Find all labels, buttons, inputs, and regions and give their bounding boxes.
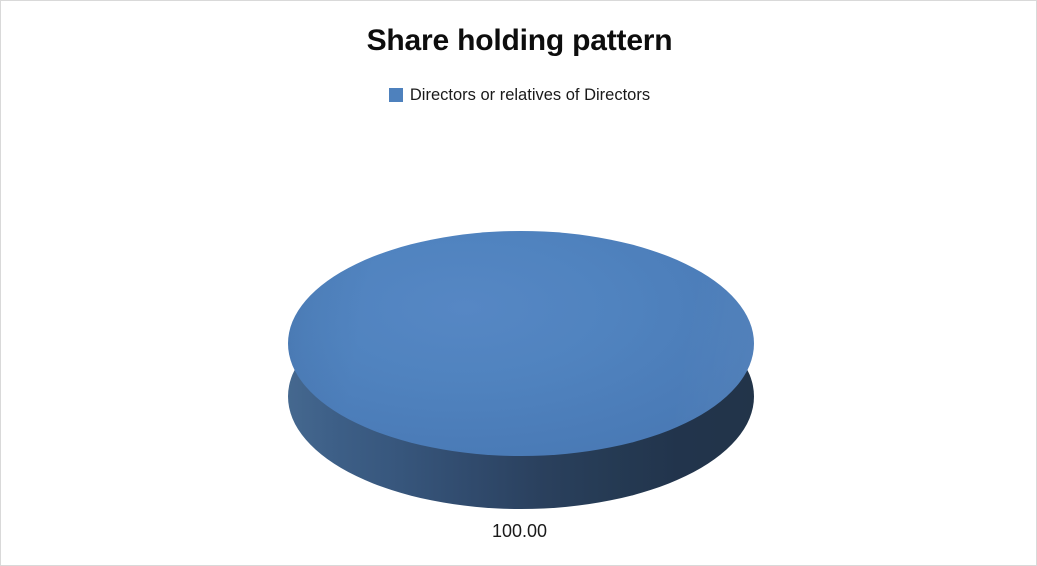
pie-slice-shading — [288, 231, 754, 456]
pie-slice-data-label: 100.00 — [1, 519, 1037, 543]
pie-chart-graphic — [288, 231, 754, 511]
chart-container: Share holding pattern Directors or relat… — [0, 0, 1037, 566]
legend-item-label: Directors or relatives of Directors — [410, 85, 650, 105]
chart-title: Share holding pattern — [1, 21, 1037, 61]
square-marker-icon — [389, 88, 403, 102]
chart-legend: Directors or relatives of Directors — [1, 85, 1037, 105]
legend-item[interactable]: Directors or relatives of Directors — [389, 85, 650, 105]
pie-slice-top-face[interactable] — [288, 231, 754, 456]
